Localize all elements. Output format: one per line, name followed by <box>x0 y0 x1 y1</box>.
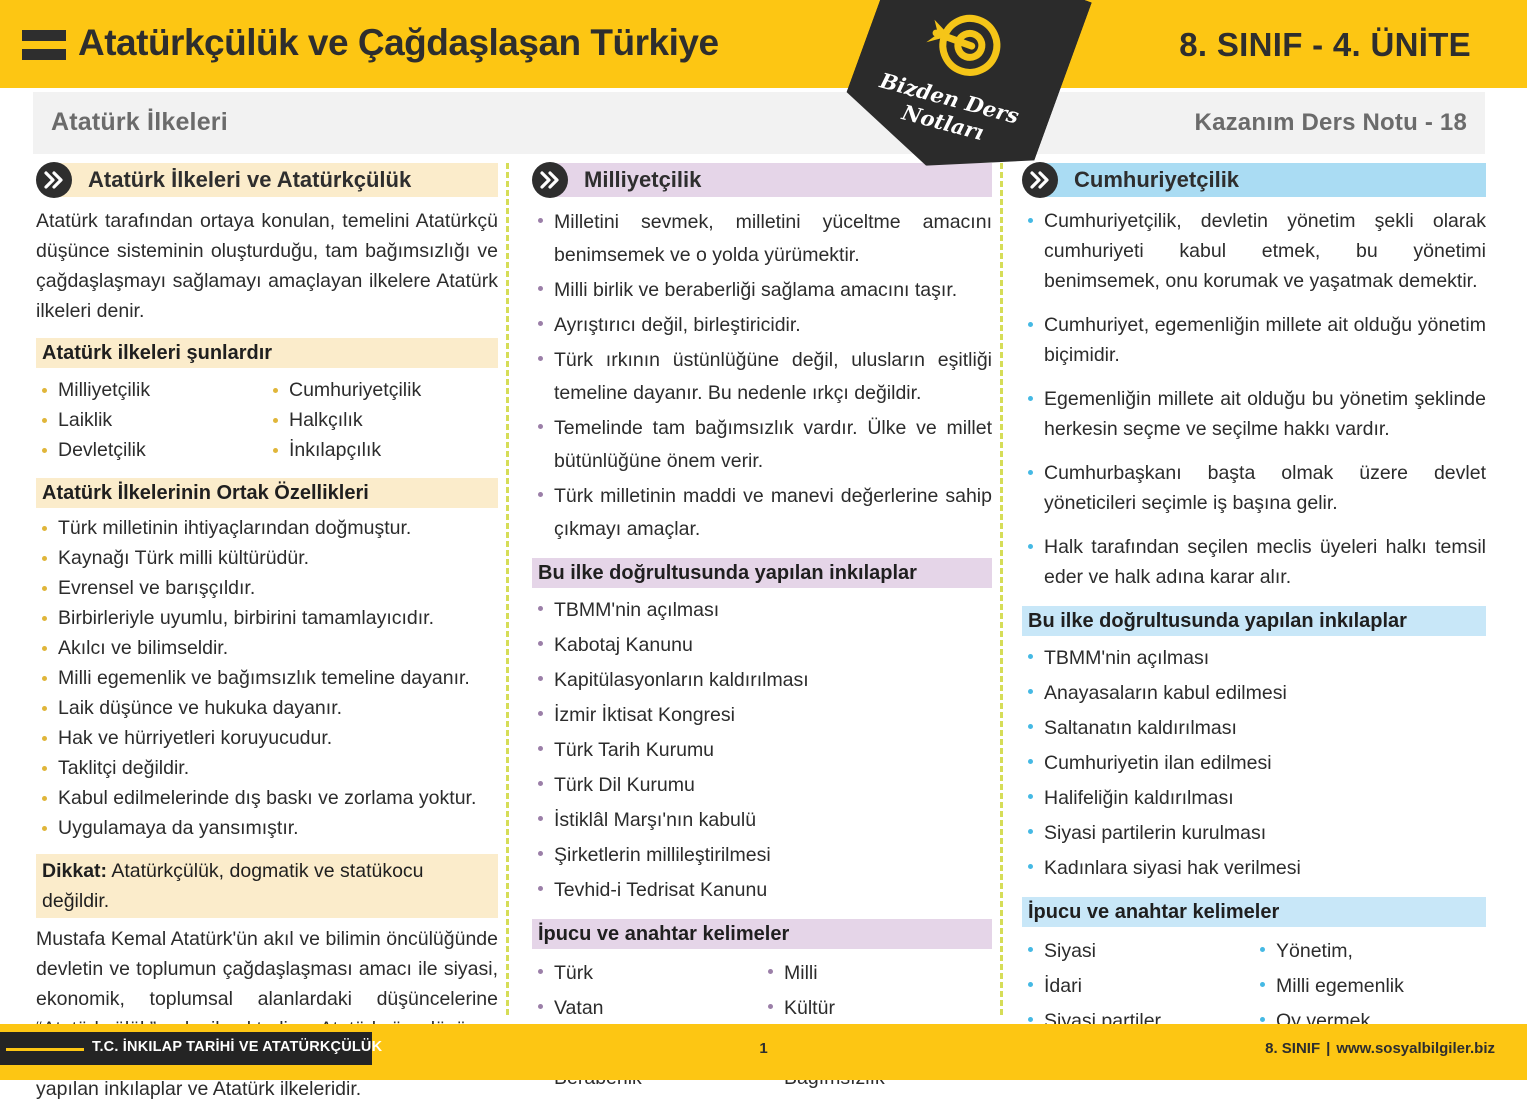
list-item: Temelinde tam bağımsızlık vardır. Ülke v… <box>532 412 992 478</box>
list-item: Taklitçi değildir. <box>36 754 498 782</box>
attention-note: Dikkat: Atatürkçülük, dogmatik ve statük… <box>36 854 498 918</box>
list-item: Türk ırkının üstünlüğüne değil, ulusları… <box>532 344 992 410</box>
subheading-keywords: İpucu ve anahtar kelimeler <box>532 919 992 949</box>
list-item: Cumhurbaşkanı başta olmak üzere devlet y… <box>1022 458 1486 518</box>
list-item: Siyasi partilerin kurulması <box>1022 817 1486 850</box>
section-header-cumhuriyetcilik: Cumhuriyetçilik <box>1022 163 1486 197</box>
list-item: Halk tarafından seçilen meclis üyeleri h… <box>1022 532 1486 592</box>
footer-meta: 8. SINIF|www.sosyalbilgiler.biz <box>1265 1040 1495 1057</box>
list-item: TBMM'nin açılması <box>1022 642 1486 675</box>
cumhuriyetcilik-reforms-list: TBMM'nin açılması Anayasaların kabul edi… <box>1022 642 1486 885</box>
list-item: Kapitülasyonların kaldırılması <box>532 664 992 697</box>
section-title: Milliyetçilik <box>584 167 701 193</box>
subtitle-bar: Atatürk İlkeleri Kazanım Ders Notu - 18 <box>33 92 1485 154</box>
list-item: Halkçılık <box>267 406 498 434</box>
principles-left-list: Milliyetçilik Laiklik Devletçilik <box>36 376 267 466</box>
list-item: Egemenliğin millete ait olduğu bu yöneti… <box>1022 384 1486 444</box>
list-item: Kültür <box>762 992 992 1025</box>
list-item: Laiklik <box>36 406 267 434</box>
list-item: Türk Dil Kurumu <box>532 769 992 802</box>
list-item: Milliyetçilik <box>36 376 267 404</box>
list-item: Saltanatın kaldırılması <box>1022 712 1486 745</box>
list-item: İdari <box>1022 970 1254 1003</box>
column-cumhuriyetcilik: Cumhuriyetçilik Cumhuriyetçilik, devleti… <box>1022 163 1486 1075</box>
list-item: Türk milletinin maddi ve manevi değerler… <box>532 480 992 546</box>
lesson-note-number: Kazanım Ders Notu - 18 <box>1195 109 1467 137</box>
list-item: İnkılapçılık <box>267 436 498 464</box>
list-item: Milletini sevmek, milletini yüceltme ama… <box>532 206 992 272</box>
list-item: Kaynağı Türk milli kültürüdür. <box>36 544 498 572</box>
page-header: Atatürkçülük ve Çağdaşlaşan Türkiye 8. S… <box>0 0 1527 88</box>
double-chevron-icon <box>1022 162 1058 198</box>
list-item: Tevhid-i Tedrisat Kanunu <box>532 874 992 907</box>
list-item: Türk Tarih Kurumu <box>532 734 992 767</box>
list-item: Halifeliğin kaldırılması <box>1022 782 1486 815</box>
list-item: Milli egemenlik <box>1254 970 1486 1003</box>
common-features-list: Türk milletinin ihtiyaçlarından doğmuştu… <box>36 514 498 842</box>
list-item: Milli birlik ve beraberliği sağlama amac… <box>532 274 992 307</box>
list-item: Vatan <box>532 992 762 1025</box>
list-item: Cumhuriyetçilik, devletin yönetim şekli … <box>1022 206 1486 296</box>
list-item: Hak ve hürriyetleri koruyucudur. <box>36 724 498 752</box>
list-item: Kabotaj Kanunu <box>532 629 992 662</box>
milliyetcilik-points-list: Milletini sevmek, milletini yüceltme ama… <box>532 206 992 546</box>
milliyetcilik-reforms-list: TBMM'nin açılması Kabotaj Kanunu Kapitül… <box>532 594 992 907</box>
attention-label: Dikkat: <box>42 860 107 882</box>
principles-grid: Milliyetçilik Laiklik Devletçilik Cumhur… <box>36 374 498 466</box>
list-item: Cumhuriyet, egemenliğin millete ait oldu… <box>1022 310 1486 370</box>
section-title: Cumhuriyetçilik <box>1074 167 1239 193</box>
list-item: Laik düşünce ve hukuka dayanır. <box>36 694 498 722</box>
lesson-subject: Atatürk İlkeleri <box>51 108 228 137</box>
list-item: Birbirleriyle uyumlu, birbirini tamamlay… <box>36 604 498 632</box>
unit-label: 8. SINIF - 4. ÜNİTE <box>1179 26 1471 64</box>
list-item: TBMM'nin açılması <box>532 594 992 627</box>
footer-separator: | <box>1326 1040 1330 1057</box>
footer-grade: 8. SINIF <box>1265 1040 1320 1057</box>
content-columns: Atatürk İlkeleri ve Atatürkçülük Atatürk… <box>0 163 1527 1015</box>
column-divider-1 <box>506 163 509 1015</box>
list-item: Devletçilik <box>36 436 267 464</box>
list-item: Ayrıştırıcı değil, birleştiricidir. <box>532 309 992 342</box>
list-item: Siyasi <box>1022 935 1254 968</box>
hamburger-bars-icon <box>22 30 66 60</box>
subheading-principles-list: Atatürk ilkeleri şunlardır <box>36 338 498 368</box>
list-item: Evrensel ve barışçıldır. <box>36 574 498 602</box>
list-item: Cumhuriyetin ilan edilmesi <box>1022 747 1486 780</box>
subheading-reforms: Bu ilke doğrultusunda yapılan inkılaplar <box>1022 606 1486 636</box>
list-item: İzmir İktisat Kongresi <box>532 699 992 732</box>
list-item: Anayasaların kabul edilmesi <box>1022 677 1486 710</box>
list-item: Kadınlara siyasi hak verilmesi <box>1022 852 1486 885</box>
list-item: Şirketlerin millileştirilmesi <box>532 839 992 872</box>
list-item: Milli <box>762 957 992 990</box>
double-chevron-icon <box>532 162 568 198</box>
list-item: Cumhuriyetçilik <box>267 376 498 404</box>
page-footer: T.C. İNKILAP TARİHİ VE ATATÜRKÇÜLÜK 1 8.… <box>0 1024 1527 1080</box>
list-item: Kabul edilmelerinde dış baskı ve zorlama… <box>36 784 498 812</box>
section-header-milliyetcilik: Milliyetçilik <box>532 163 992 197</box>
list-item: İstiklâl Marşı'nın kabulü <box>532 804 992 837</box>
subheading-reforms: Bu ilke doğrultusunda yapılan inkılaplar <box>532 558 992 588</box>
subheading-keywords: İpucu ve anahtar kelimeler <box>1022 897 1486 927</box>
column-divider-2 <box>1000 163 1003 1015</box>
section-title: Atatürk İlkeleri ve Atatürkçülük <box>88 167 411 193</box>
list-item: Yönetim, <box>1254 935 1486 968</box>
list-item: Türk <box>532 957 762 990</box>
list-item: Uygulamaya da yansımıştır. <box>36 814 498 842</box>
list-item: Türk milletinin ihtiyaçlarından doğmuştu… <box>36 514 498 542</box>
section-header-principles: Atatürk İlkeleri ve Atatürkçülük <box>36 163 498 197</box>
footer-website[interactable]: www.sosyalbilgiler.biz <box>1336 1040 1495 1057</box>
principles-right-list: Cumhuriyetçilik Halkçılık İnkılapçılık <box>267 376 498 466</box>
list-item: Milli egemenlik ve bağımsızlık temeline … <box>36 664 498 692</box>
subheading-common-features: Atatürk İlkelerinin Ortak Özellikleri <box>36 478 498 508</box>
cumhuriyetcilik-points-list: Cumhuriyetçilik, devletin yönetim şekli … <box>1022 206 1486 592</box>
column-milliyetcilik: Milliyetçilik Milletini sevmek, milletin… <box>532 163 992 1097</box>
double-chevron-icon <box>36 162 72 198</box>
list-item: Akılcı ve bilimseldir. <box>36 634 498 662</box>
page-title: Atatürkçülük ve Çağdaşlaşan Türkiye <box>78 22 719 64</box>
intro-paragraph: Atatürk tarafından ortaya konulan, temel… <box>36 206 498 326</box>
column-atataurk-ilkeleri: Atatürk İlkeleri ve Atatürkçülük Atatürk… <box>36 163 498 1110</box>
